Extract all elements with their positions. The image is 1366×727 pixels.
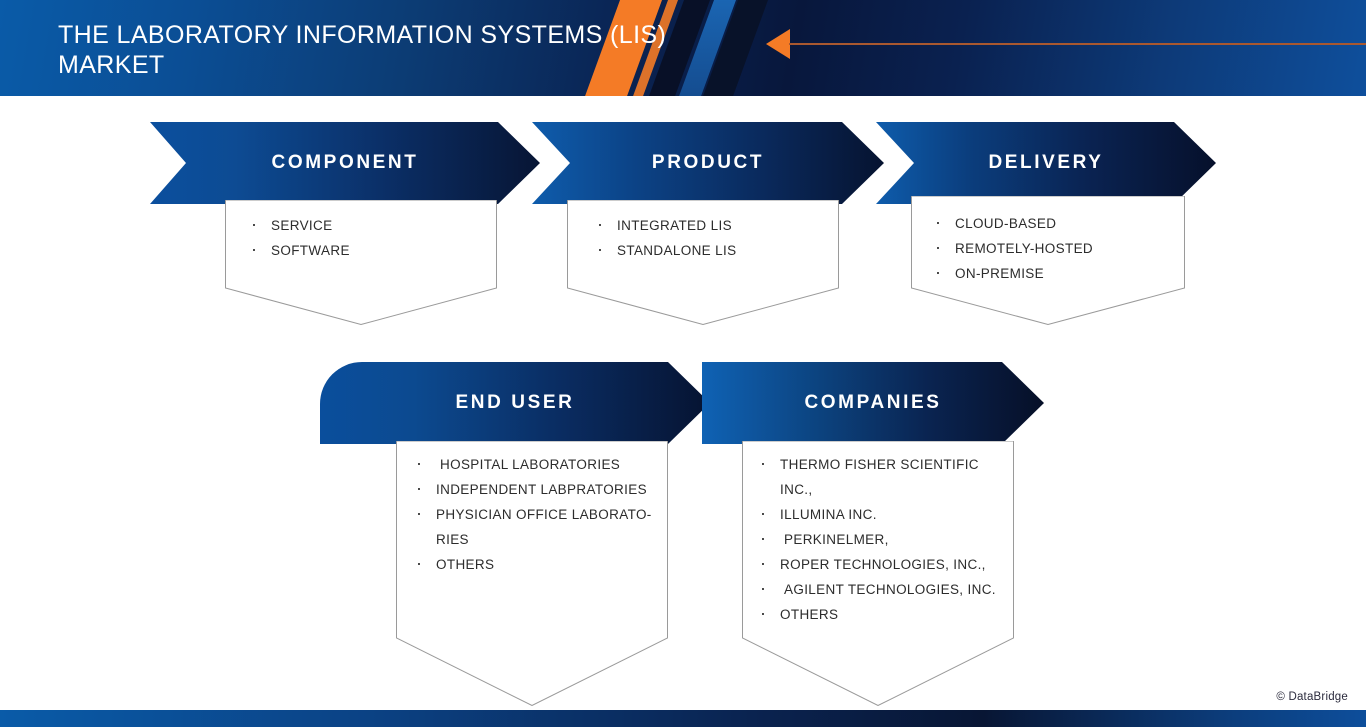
header-accent-line bbox=[789, 43, 1366, 45]
segment-banner-delivery[interactable]: DELIVERY bbox=[876, 122, 1216, 204]
list-item: AGILENT TECHNOLOGIES, INC. bbox=[760, 577, 1002, 602]
list-item: SERVICE bbox=[251, 213, 485, 238]
segment-list-companies: THERMO FISHER SCIENTIFIC INC., ILLUMINA … bbox=[742, 441, 1014, 627]
slide-canvas: THE LABORATORY INFORMATION SYSTEMS (LIS)… bbox=[0, 0, 1366, 727]
list-item: ROPER TECHNOLOGIES, INC., bbox=[760, 552, 1002, 577]
segment-list-end-user: HOSPITAL LABORATORIES INDEPENDENT LABPRA… bbox=[396, 441, 668, 577]
list-item: THERMO FISHER SCIENTIFIC INC., bbox=[760, 452, 1002, 502]
list-item: OTHERS bbox=[760, 602, 1002, 627]
segment-banner-companies[interactable]: COMPANIES bbox=[702, 362, 1044, 444]
segment-box-delivery: CLOUD-BASED REMOTELY-HOSTED ON-PREMISE bbox=[911, 196, 1185, 325]
list-item: PERKINELMER, bbox=[760, 527, 1002, 552]
segment-label-end-user: END USER bbox=[456, 392, 575, 414]
segment-list-component: SERVICE SOFTWARE bbox=[225, 200, 497, 263]
list-item: REMOTELY-HOSTED bbox=[935, 236, 1173, 261]
list-item: OTHERS bbox=[416, 552, 656, 577]
list-item: ON-PREMISE bbox=[935, 261, 1173, 286]
list-item: HOSPITAL LABORATORIES bbox=[416, 452, 656, 477]
copyright-text: © DataBridge bbox=[1276, 691, 1348, 703]
list-item: PHYSICIAN OFFICE LABORATO-RIES bbox=[416, 502, 656, 552]
page-title: THE LABORATORY INFORMATION SYSTEMS (LIS)… bbox=[58, 20, 678, 80]
segment-box-end-user: HOSPITAL LABORATORIES INDEPENDENT LABPRA… bbox=[396, 441, 668, 706]
segment-list-delivery: CLOUD-BASED REMOTELY-HOSTED ON-PREMISE bbox=[911, 196, 1185, 286]
segment-label-product: PRODUCT bbox=[652, 152, 764, 174]
segment-label-component: COMPONENT bbox=[272, 152, 419, 174]
list-item: STANDALONE LIS bbox=[597, 238, 827, 263]
segment-box-companies: THERMO FISHER SCIENTIFIC INC., ILLUMINA … bbox=[742, 441, 1014, 706]
segment-box-product: INTEGRATED LIS STANDALONE LIS bbox=[567, 200, 839, 325]
segment-label-companies: COMPANIES bbox=[804, 392, 941, 414]
list-item: ILLUMINA INC. bbox=[760, 502, 1002, 527]
list-item: INTEGRATED LIS bbox=[597, 213, 827, 238]
bottom-accent-bar bbox=[0, 710, 1366, 727]
segment-banner-end-user[interactable]: END USER bbox=[320, 362, 710, 444]
list-item: INDEPENDENT LABPRATORIES bbox=[416, 477, 656, 502]
segment-list-product: INTEGRATED LIS STANDALONE LIS bbox=[567, 200, 839, 263]
segment-banner-component[interactable]: COMPONENT bbox=[150, 122, 540, 204]
list-item: CLOUD-BASED bbox=[935, 211, 1173, 236]
left-triangle-arrow-icon bbox=[766, 29, 790, 59]
list-item: SOFTWARE bbox=[251, 238, 485, 263]
slide-header: THE LABORATORY INFORMATION SYSTEMS (LIS)… bbox=[0, 0, 1366, 96]
segment-label-delivery: DELIVERY bbox=[988, 152, 1103, 174]
segment-box-component: SERVICE SOFTWARE bbox=[225, 200, 497, 325]
segment-banner-product[interactable]: PRODUCT bbox=[532, 122, 884, 204]
